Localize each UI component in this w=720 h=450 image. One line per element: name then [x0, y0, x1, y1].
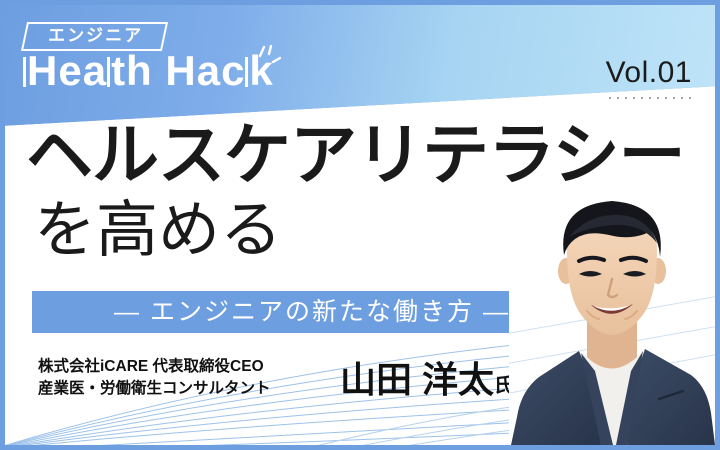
logo-stroke-accent-2: [107, 57, 110, 87]
speaker-name: 山田 洋太氏: [340, 362, 514, 398]
health-hack-logo: Heath Hack: [23, 50, 274, 92]
sparkle-icon: [247, 44, 287, 78]
speaker-credential-line-2: 産業医・労働衛生コンサルタント: [38, 378, 271, 400]
volume-dotted-underline: [606, 96, 692, 100]
logo-stroke-accent-1: [23, 57, 26, 87]
subtitle-banner-text: — エンジニアの新たな働き方 —: [114, 300, 510, 325]
headline-line-1: ヘルスケアリテラシー: [26, 122, 685, 189]
speaker-credential-line-1: 株式会社iCARE 代表取締役CEO: [38, 356, 271, 378]
headline-line-2: を高める: [34, 200, 282, 262]
speaker-credentials: 株式会社iCARE 代表取締役CEO 産業医・労働衛生コンサルタント: [38, 356, 271, 401]
engineer-category-tag-label: エンジニア: [48, 27, 143, 45]
health-hack-title-banner: エンジニア Heath Hack Vol.01 ヘルスケア: [0, 0, 720, 450]
portrait-illustration: [509, 185, 715, 445]
logo-text-part1: Hea: [27, 47, 107, 94]
subtitle-banner: — エンジニアの新たな働き方 —: [32, 291, 592, 333]
speaker-name-text: 山田 洋太: [340, 359, 494, 400]
logo-text-part2: th Hac: [111, 47, 245, 94]
volume-label: Vol.01: [606, 58, 692, 88]
speaker-portrait: [509, 185, 715, 445]
